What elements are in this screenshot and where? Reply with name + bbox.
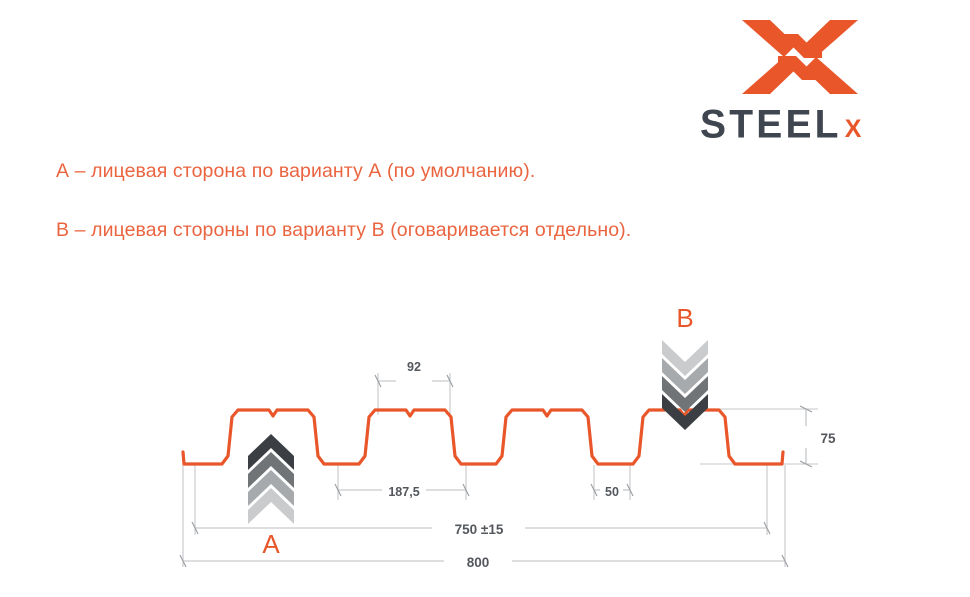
dimension-pitch: 187,5 [388, 485, 419, 499]
dimension-total-width: 800 [467, 555, 490, 570]
brand-wordmark-superscript: X [845, 117, 862, 142]
dimension-crest-width: 92 [407, 360, 421, 374]
legend-line-b: В – лицевая стороны по варианту В (огова… [56, 219, 631, 242]
dimension-valley-width: 50 [605, 485, 619, 499]
legend-line-a: А – лицевая сторона по варианту А (по ум… [56, 160, 535, 183]
chevron-up-stack-icon [248, 434, 294, 524]
brand-wordmark-text: STEEL [700, 105, 842, 145]
dimension-cover-width: 750 ±15 [455, 522, 504, 537]
marker-a-label: А [262, 529, 280, 559]
marker-b: В [662, 303, 708, 430]
dimension-height: 75 [820, 431, 836, 446]
brand-wordmark: STEEL X [700, 104, 910, 144]
marker-a: А [248, 434, 294, 559]
brand-logo: STEEL X [700, 18, 910, 143]
profile-datasheet-page: STEEL X А – лицевая сторона по варианту … [0, 0, 970, 597]
chevron-down-stack-icon [662, 340, 708, 430]
steelx-x-mark-icon [740, 18, 860, 96]
marker-b-label: В [676, 303, 693, 333]
profile-technical-drawing: 92 187,5 50 750 ±15 800 75 А В [0, 285, 970, 597]
